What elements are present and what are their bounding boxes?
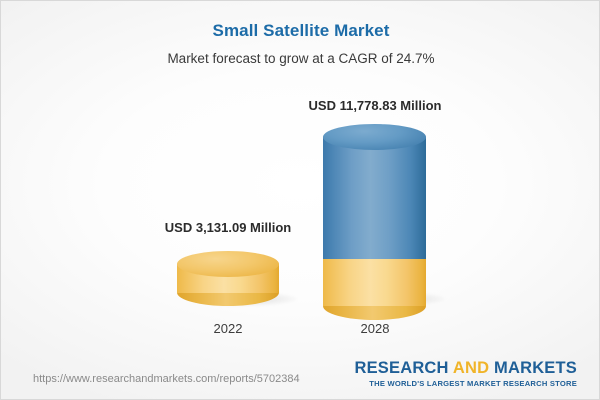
chart-title: Small Satellite Market: [1, 21, 600, 41]
bar-2028-growth-body: [323, 137, 426, 259]
chart-card: Small Satellite Market Market forecast t…: [0, 0, 600, 400]
logo-word-markets: MARKETS: [494, 359, 577, 377]
bar-2022-segment: [177, 251, 279, 306]
logo-tagline: THE WORLD'S LARGEST MARKET RESEARCH STOR…: [354, 379, 577, 388]
chart-subtitle: Market forecast to grow at a CAGR of 24.…: [1, 51, 600, 66]
source-url[interactable]: https://www.researchandmarkets.com/repor…: [33, 373, 300, 385]
bar-2028: [323, 124, 426, 306]
bar-2022-cap: [177, 251, 279, 277]
bar-2022-value-label: USD 3,131.09 Million: [128, 220, 328, 235]
bar-2028-growth-cap: [323, 124, 426, 150]
logo-word-and: AND: [453, 359, 489, 377]
bar-2028-growth-segment: [323, 124, 426, 259]
logo-wordmark: RESEARCH AND MARKETS: [354, 359, 577, 377]
research-and-markets-logo[interactable]: RESEARCH AND MARKETS THE WORLD'S LARGEST…: [354, 359, 577, 388]
bar-2028-value-label: USD 11,778.83 Million: [275, 98, 475, 113]
bar-2022: [177, 251, 279, 306]
bar-2022-year-label: 2022: [128, 321, 328, 336]
logo-word-research: RESEARCH: [354, 359, 448, 377]
